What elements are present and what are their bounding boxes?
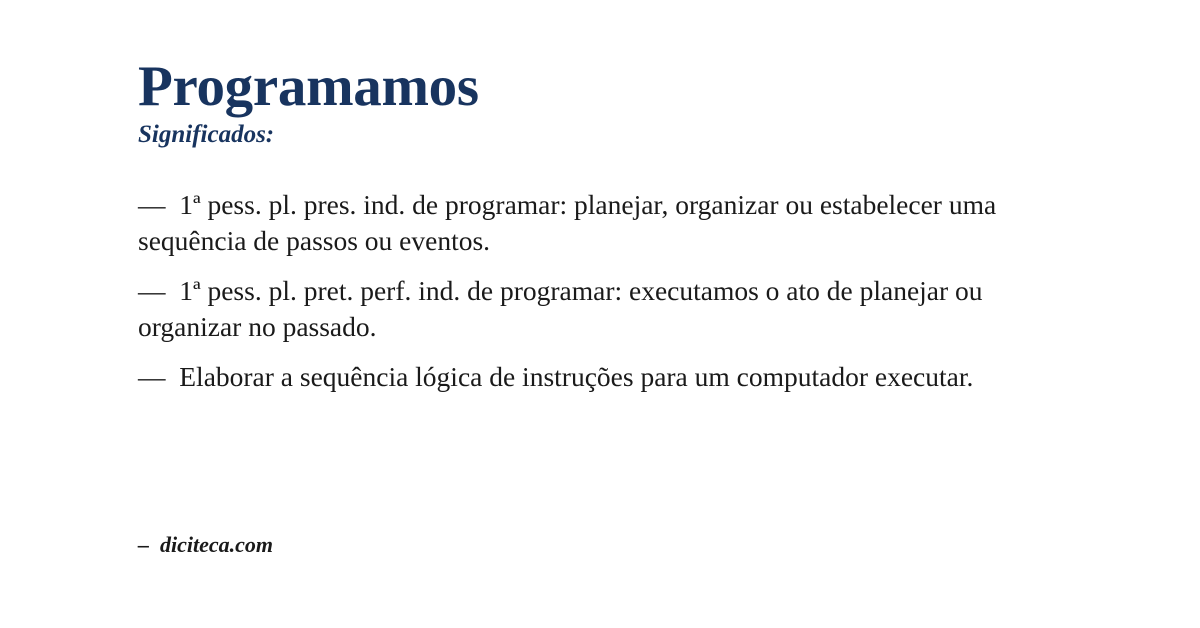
dictionary-entry-card: Programamos Significados: — 1ª pess. pl.… [0,0,1200,628]
page-title: Programamos [138,58,1065,115]
em-dash-marker: — [138,275,179,306]
definition-item: — Elaborar a sequência lógica de instruç… [138,359,1073,395]
definition-item: — 1ª pess. pl. pres. ind. de programar: … [138,187,1073,259]
definition-list: — 1ª pess. pl. pres. ind. de programar: … [138,187,1073,395]
meanings-section-label: Significados: [138,121,1065,149]
em-dash-marker: — [138,189,179,220]
em-dash-marker: — [138,361,179,392]
definition-text: Elaborar a sequência lógica de instruçõe… [179,361,973,392]
definition-text: 1ª pess. pl. pres. ind. de programar: pl… [138,189,996,256]
definition-text: 1ª pess. pl. pret. perf. ind. de program… [138,275,983,342]
definition-item: — 1ª pess. pl. pret. perf. ind. de progr… [138,273,1073,345]
source-attribution: – diciteca.com [138,532,273,558]
